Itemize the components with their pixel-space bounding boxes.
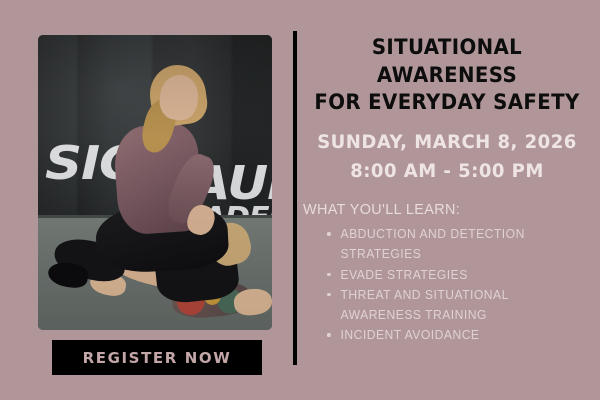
event-photo: SIG SAUER ACADEMY bbox=[38, 35, 272, 330]
list-item: EVADE STRATEGIES bbox=[325, 265, 583, 285]
list-item: INCIDENT AVOIDANCE bbox=[325, 325, 583, 345]
list-item: THREAT AND SITUATIONAL AWARENESS TRAININ… bbox=[325, 285, 583, 326]
event-time: 8:00 AM - 5:00 PM bbox=[310, 157, 584, 186]
what-youll-learn-heading: WHAT YOU'LL LEARN: bbox=[303, 201, 579, 218]
event-title-line-2: FOR EVERYDAY SAFETY bbox=[312, 89, 583, 117]
register-now-label: REGISTER NOW bbox=[83, 349, 232, 367]
event-date: SUNDAY, MARCH 8, 2026 bbox=[310, 128, 584, 157]
event-flyer: SIG SAUER ACADEMY REGISTER NOW SITUATION… bbox=[0, 0, 600, 400]
curriculum-list: ABDUCTION AND DETECTION STRATEGIES EVADE… bbox=[303, 224, 591, 346]
list-item: ABDUCTION AND DETECTION STRATEGIES bbox=[325, 224, 583, 265]
vertical-divider bbox=[293, 31, 297, 365]
register-now-button[interactable]: REGISTER NOW bbox=[52, 340, 262, 375]
event-details-column: SITUATIONAL AWARENESS FOR EVERYDAY SAFET… bbox=[303, 30, 591, 370]
event-title-line-1: SITUATIONAL AWARENESS bbox=[312, 34, 583, 89]
